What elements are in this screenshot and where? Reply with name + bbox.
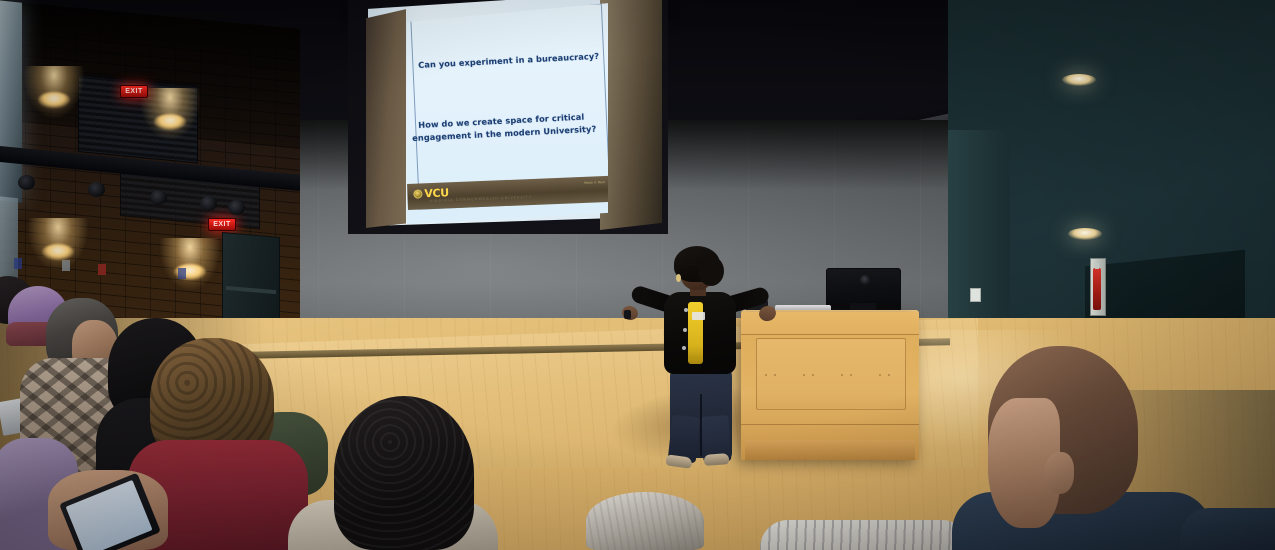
- exit-sign: EXIT: [120, 85, 148, 98]
- jacket-button: [684, 308, 688, 312]
- light-switch[interactable]: [970, 288, 981, 302]
- side-window: [0, 0, 22, 203]
- ceiling-downlight-icon: [1068, 228, 1102, 240]
- monitor-brand-icon: [860, 275, 870, 285]
- wall-sign: [14, 258, 22, 269]
- fire-extinguisher-icon: [1093, 268, 1101, 310]
- earring-icon: [676, 274, 681, 282]
- presenter-shoe: [704, 453, 730, 466]
- slide-corner-note: Make It Real: [584, 180, 605, 185]
- screen-right-shadow: [600, 0, 662, 230]
- fire-alarm-pull[interactable]: [98, 264, 106, 275]
- projection-screen: Can you experiment in a bureaucracy? How…: [348, 0, 668, 234]
- wall-plate: [62, 260, 70, 271]
- exit-sign: EXIT: [208, 218, 236, 231]
- screen-left-shadow: [366, 0, 406, 228]
- track-light-icon: [150, 190, 167, 205]
- vcu-seal-icon: [413, 189, 422, 198]
- track-light-icon: [200, 196, 217, 211]
- audience-ear: [1044, 452, 1074, 494]
- audience-hair-texture: [334, 396, 474, 550]
- presenter-right-hand: [757, 304, 777, 323]
- presenter-badge: [692, 312, 705, 320]
- jacket-button: [682, 346, 686, 350]
- track-light-icon: [18, 175, 35, 190]
- pants-seam: [700, 394, 702, 456]
- presenter: [628, 248, 788, 473]
- presentation-slide: Can you experiment in a bureaucracy? How…: [404, 2, 608, 224]
- jacket-button: [683, 328, 687, 332]
- presentation-clicker[interactable]: [624, 310, 631, 319]
- track-light-icon: [88, 182, 105, 197]
- lecture-hall-photo: EXIT EXIT: [0, 0, 1275, 550]
- wall-sign: [178, 268, 186, 279]
- audience-member-stripes: [760, 520, 970, 550]
- ceiling-downlight-icon: [1062, 74, 1096, 86]
- presenter-hair-back: [698, 256, 724, 286]
- glasses-icon: [682, 264, 704, 270]
- audience-hair-texture: [586, 492, 704, 550]
- track-light-icon: [228, 200, 245, 215]
- audience-member-far-right: [1180, 508, 1275, 550]
